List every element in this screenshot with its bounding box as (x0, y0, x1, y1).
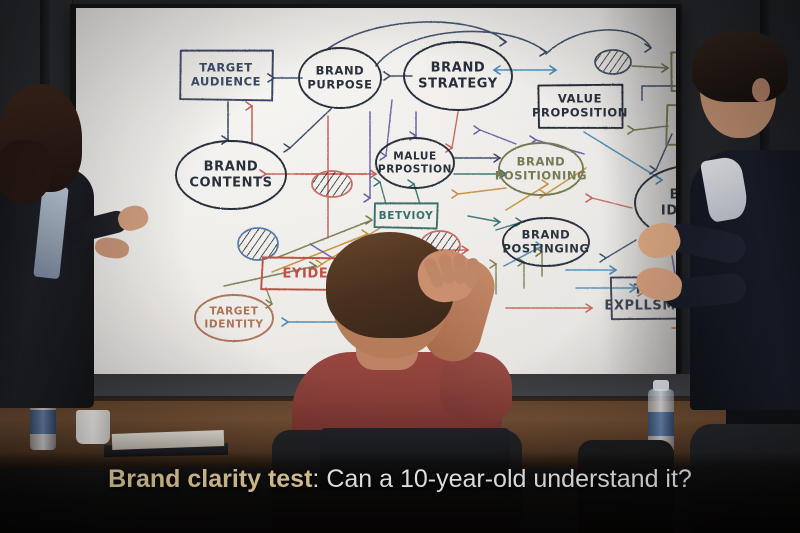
node-label-target-identity: TARGET (209, 305, 258, 317)
node-label-malue-prpostion: MALUE (393, 150, 437, 162)
node-label-brand-positioning: BRAND (517, 154, 566, 168)
boy-sleeve (440, 352, 512, 422)
node-label-brand-purpose: PURPOSE (307, 78, 372, 92)
man-ear (752, 78, 770, 102)
node-label-target-audience: AUDIENCE (191, 75, 261, 89)
node-label-target-audience: TARGET (199, 60, 252, 74)
man-hair (692, 30, 788, 102)
node-label-target-identity: IDENTITY (204, 319, 263, 331)
node-label-value-proposition: VALUE (558, 91, 602, 105)
node-label-brand-contents: CONTENTS (189, 176, 272, 191)
screenshot-root: TARGETAUDIENCEBRANDPURPOSEBRANDSTRATEGYV… (0, 0, 800, 533)
node-label-malue-prpostion: PRPOSTION (378, 164, 452, 176)
node-label-brand-postinging: BRAND (522, 227, 571, 241)
node-label-brand-contents: BRAND (204, 159, 259, 174)
node-label-brand-postinging: POSTINGING (502, 242, 589, 256)
node-label-betvioy: BETVIOY (379, 210, 434, 222)
node-label-brand-purpose: BRAND (316, 63, 365, 77)
node-label-brand-strategy: BRAND (431, 60, 486, 75)
node-label-brand-strategy: STRATEGY (418, 77, 498, 92)
node-label-brand-positioning: POSITIONING (495, 169, 587, 183)
node-label-brand-identity: IDENTITY (661, 204, 676, 219)
bottle-label (30, 410, 56, 434)
caption-bar: Brand clarity test: Can a 10-year-old un… (0, 465, 800, 495)
caption-highlight: Brand clarity test (108, 465, 312, 493)
node-label-brand-identity: BRAND (670, 187, 676, 202)
bottle-label (648, 412, 674, 436)
node-label-value-proposition: PROPOSITION (532, 106, 628, 120)
caption-rest: : Can a 10-year-old understand it? (312, 465, 691, 493)
coffee-cup (76, 410, 110, 444)
